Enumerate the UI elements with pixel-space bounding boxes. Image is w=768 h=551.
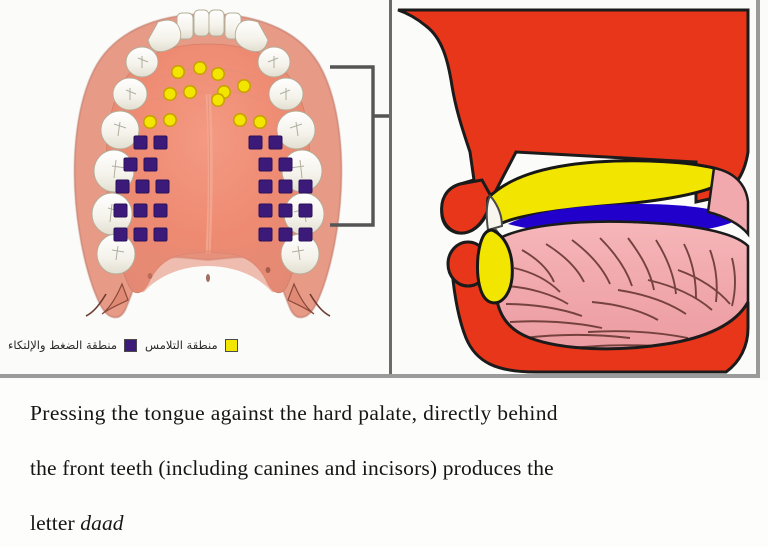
tooth-incisor	[194, 10, 209, 36]
caption-line-3-prefix: letter	[30, 511, 80, 535]
tooth-molar	[101, 111, 139, 149]
contact-marker	[254, 116, 266, 128]
contact-marker	[172, 66, 184, 78]
legend-swatch-purple	[124, 339, 137, 352]
caption-line-3: letter daad	[30, 496, 746, 551]
pressure-marker	[154, 228, 167, 241]
legend-swatch-yellow	[225, 339, 238, 352]
contact-marker	[184, 86, 196, 98]
contact-marker	[164, 88, 176, 100]
pressure-marker	[156, 180, 169, 193]
contact-marker	[238, 80, 250, 92]
contact-marker	[194, 62, 206, 74]
pressure-marker	[299, 228, 312, 241]
upper-lip	[442, 180, 492, 233]
pressure-marker	[154, 204, 167, 217]
pressure-marker	[259, 180, 272, 193]
pressure-marker	[299, 180, 312, 193]
fovea-palatina	[206, 274, 210, 282]
pressure-marker	[299, 204, 312, 217]
panel-divider	[389, 0, 392, 378]
caption-line-1: Pressing the tongue against the hard pal…	[30, 386, 746, 441]
legend-item-contact: منطقة التلامس	[145, 338, 238, 352]
pressure-marker	[279, 228, 292, 241]
pressure-marker	[144, 158, 157, 171]
occlusal-palate-diagram	[58, 8, 358, 320]
panel-bottom-border	[0, 374, 758, 378]
pressure-marker	[116, 180, 129, 193]
caption-line-2: the front teeth (including canines and i…	[30, 441, 746, 496]
caption-letter-name: daad	[80, 511, 123, 535]
pressure-marker	[279, 180, 292, 193]
legend-label-pressure: منطقة الضغط والإلتكاء	[8, 338, 117, 352]
pressure-marker	[136, 180, 149, 193]
contact-marker	[164, 114, 176, 126]
pressure-marker	[249, 136, 262, 149]
pressure-marker	[259, 228, 272, 241]
tooth-molar	[277, 111, 315, 149]
pressure-marker	[269, 136, 282, 149]
panel-right-border	[756, 0, 760, 378]
contact-marker	[212, 68, 224, 80]
pressure-marker	[114, 228, 127, 241]
contact-marker	[212, 94, 224, 106]
contact-marker	[144, 116, 156, 128]
pressure-marker	[259, 158, 272, 171]
pressure-marker	[134, 136, 147, 149]
pressure-marker	[154, 136, 167, 149]
figure-caption: Pressing the tongue against the hard pal…	[0, 382, 768, 547]
pressure-marker	[124, 158, 137, 171]
pressure-marker	[259, 204, 272, 217]
figure-panel: منطقة الضغط والإلتكاء منطقة التلامس	[0, 0, 768, 380]
pressure-marker	[279, 204, 292, 217]
figure-page: منطقة الضغط والإلتكاء منطقة التلامس Pres…	[0, 0, 768, 547]
pressure-marker	[134, 204, 147, 217]
sagittal-mouth-diagram	[396, 2, 756, 374]
legend-item-pressure: منطقة الضغط والإلتكاء	[8, 338, 137, 352]
pressure-marker	[134, 228, 147, 241]
pressure-marker	[114, 204, 127, 217]
pressure-marker	[279, 158, 292, 171]
tooth-incisor	[209, 10, 224, 36]
legend: منطقة الضغط والإلتكاء منطقة التلامس	[8, 330, 383, 360]
callout-bracket	[330, 60, 394, 232]
contact-marker	[234, 114, 246, 126]
legend-label-contact: منطقة التلامس	[145, 338, 218, 352]
